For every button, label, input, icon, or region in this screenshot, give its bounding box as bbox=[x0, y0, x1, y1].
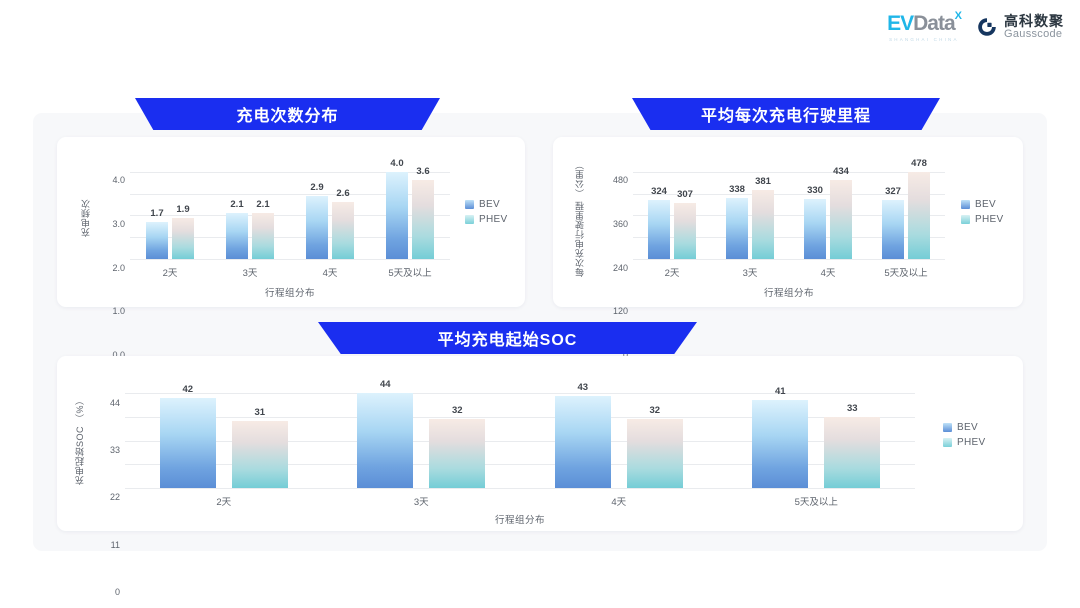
bar-phev-2[interactable]: 2.6 bbox=[332, 202, 354, 259]
chart3-legend-item-bev[interactable]: BEV bbox=[943, 422, 985, 433]
chart2-legend-item-phev[interactable]: PHEV bbox=[961, 214, 1003, 225]
bar-value-label: 324 bbox=[651, 186, 667, 197]
bar-value-label: 2.9 bbox=[310, 182, 323, 193]
gausscode-wordmark: 高科数聚 Gausscode bbox=[1004, 14, 1064, 40]
bev-swatch-icon bbox=[943, 423, 952, 432]
bar-value-label: 31 bbox=[254, 407, 265, 418]
chart3-y-axis-label-line1: 充电起始SOC bbox=[75, 426, 85, 485]
phev-swatch-icon bbox=[961, 215, 970, 224]
bar-bev-2[interactable]: 2.9 bbox=[306, 196, 328, 259]
bar-bev-3[interactable]: 41 bbox=[752, 400, 808, 488]
chart1-legend-item-phev[interactable]: PHEV bbox=[465, 214, 507, 225]
chart3-legend-label-phev: PHEV bbox=[957, 437, 985, 448]
chart1-plot-area: 0.01.02.03.04.01.71.92天2.12.13天2.92.64天4… bbox=[130, 163, 450, 259]
y-axis-tick: 3.0 bbox=[112, 219, 125, 229]
bar-value-label: 1.9 bbox=[176, 204, 189, 215]
chart-charging-frequency: 充电频次 0.01.02.03.04.01.71.92天2.12.13天2.92… bbox=[57, 137, 525, 307]
bar-phev-0[interactable]: 31 bbox=[232, 421, 288, 488]
evdata-wordmark: EV Data X bbox=[887, 13, 962, 34]
chart3-plot-area: 01122334442312天44323天43324天41335天及以上 bbox=[125, 384, 915, 488]
bar-bev-2[interactable]: 330 bbox=[804, 199, 826, 259]
chart2-plot-area: 01202403604803243072天3383813天3304344天327… bbox=[633, 163, 945, 259]
bar-value-label: 330 bbox=[807, 185, 823, 196]
chart-card-avg-range: 每次充电行驶里程 （公里） 01202403604803243072天33838… bbox=[553, 137, 1023, 307]
bar-phev-2[interactable]: 434 bbox=[830, 180, 852, 259]
bar-value-label: 478 bbox=[911, 158, 927, 169]
bar-value-label: 434 bbox=[833, 166, 849, 177]
chart2-legend-item-bev[interactable]: BEV bbox=[961, 199, 1003, 210]
bar-bev-0[interactable]: 1.7 bbox=[146, 222, 168, 259]
evdata-data-text: Data bbox=[913, 13, 955, 34]
bar-phev-0[interactable]: 1.9 bbox=[172, 218, 194, 259]
bar-bev-1[interactable]: 338 bbox=[726, 198, 748, 259]
chart2-x-axis-label: 行程组分布 bbox=[633, 285, 945, 299]
chart-title-banner-avg-start-soc: 平均充电起始SOC bbox=[318, 322, 697, 354]
bar-phev-1[interactable]: 2.1 bbox=[252, 213, 274, 259]
chart2-legend: BEV PHEV bbox=[961, 199, 1003, 225]
bar-value-label: 381 bbox=[755, 176, 771, 187]
bar-value-label: 1.7 bbox=[150, 208, 163, 219]
phev-swatch-icon bbox=[943, 438, 952, 447]
bar-phev-3[interactable]: 478 bbox=[908, 172, 930, 259]
y-axis-tick: 1.0 bbox=[112, 306, 125, 316]
bar-bev-3[interactable]: 4.0 bbox=[386, 172, 408, 259]
chart1-legend-label-phev: PHEV bbox=[479, 214, 507, 225]
bar-value-label: 41 bbox=[775, 386, 786, 397]
bar-phev-2[interactable]: 32 bbox=[627, 419, 683, 488]
chart-card-avg-start-soc: 充电起始SOC （%） 01122334442312天44323天43324天4… bbox=[57, 356, 1023, 531]
chart-avg-start-soc: 充电起始SOC （%） 01122334442312天44323天43324天4… bbox=[57, 356, 1023, 531]
bar-value-label: 2.6 bbox=[336, 188, 349, 199]
chart3-y-axis-label: 充电起始SOC （%） bbox=[75, 390, 85, 490]
gridline: 44 bbox=[125, 393, 915, 394]
x-axis-tick: 4天 bbox=[611, 494, 626, 508]
y-axis-tick: 360 bbox=[613, 219, 628, 229]
x-axis-tick: 4天 bbox=[323, 265, 338, 279]
y-axis-tick: 4.0 bbox=[112, 175, 125, 185]
chart1-x-axis-label: 行程组分布 bbox=[130, 285, 450, 299]
bar-bev-0[interactable]: 42 bbox=[160, 398, 216, 488]
x-axis-tick: 5天及以上 bbox=[795, 494, 838, 508]
evdata-tagline: SHANGHAI CHINA bbox=[889, 37, 959, 42]
chart3-legend-label-bev: BEV bbox=[957, 422, 978, 433]
bar-value-label: 33 bbox=[847, 403, 858, 414]
bar-value-label: 2.1 bbox=[230, 199, 243, 210]
gridline: 0.0 bbox=[130, 259, 450, 260]
chart3-legend-item-phev[interactable]: PHEV bbox=[943, 437, 985, 448]
bar-phev-0[interactable]: 307 bbox=[674, 203, 696, 259]
x-axis-tick: 3天 bbox=[414, 494, 429, 508]
chart3-y-axis-label-line2: （%） bbox=[75, 395, 85, 423]
gausscode-circle-icon bbox=[976, 16, 998, 38]
chart-avg-range: 每次充电行驶里程 （公里） 01202403604803243072天33838… bbox=[553, 137, 1023, 307]
x-axis-tick: 3天 bbox=[743, 265, 758, 279]
chart3-legend: BEV PHEV bbox=[943, 422, 985, 448]
evdata-x-superscript-icon: X bbox=[955, 11, 962, 22]
bar-value-label: 3.6 bbox=[416, 166, 429, 177]
bar-bev-1[interactable]: 44 bbox=[357, 393, 413, 488]
bar-value-label: 32 bbox=[649, 405, 660, 416]
bar-phev-3[interactable]: 33 bbox=[824, 417, 880, 488]
bar-value-label: 307 bbox=[677, 189, 693, 200]
x-axis-tick: 4天 bbox=[821, 265, 836, 279]
bar-bev-1[interactable]: 2.1 bbox=[226, 213, 248, 259]
bar-value-label: 42 bbox=[182, 384, 193, 395]
gausscode-cn-text: 高科数聚 bbox=[1004, 14, 1064, 29]
chart2-legend-label-bev: BEV bbox=[975, 199, 996, 210]
gridline: 0 bbox=[125, 488, 915, 489]
x-axis-tick: 3天 bbox=[243, 265, 258, 279]
bar-value-label: 44 bbox=[380, 379, 391, 390]
bev-swatch-icon bbox=[465, 200, 474, 209]
chart2-y-axis-label-line1: 每次充电行驶里程 bbox=[575, 201, 585, 277]
bev-swatch-icon bbox=[961, 200, 970, 209]
chart1-y-axis-label: 充电频次 bbox=[81, 181, 91, 255]
gausscode-logo: 高科数聚 Gausscode bbox=[976, 14, 1064, 40]
bar-value-label: 2.1 bbox=[256, 199, 269, 210]
chart-card-charging-frequency: 充电频次 0.01.02.03.04.01.71.92天2.12.13天2.92… bbox=[57, 137, 525, 307]
chart3-x-axis-label: 行程组分布 bbox=[125, 512, 915, 526]
bar-value-label: 32 bbox=[452, 405, 463, 416]
y-axis-tick: 240 bbox=[613, 263, 628, 273]
evdata-ev-text: EV bbox=[887, 13, 913, 34]
y-axis-tick: 44 bbox=[110, 398, 120, 408]
y-axis-tick: 120 bbox=[613, 306, 628, 316]
evdata-logo: EV Data X SHANGHAI CHINA bbox=[887, 13, 962, 42]
x-axis-tick: 5天及以上 bbox=[884, 265, 927, 279]
bar-phev-1[interactable]: 381 bbox=[752, 190, 774, 259]
slide-root: EV Data X SHANGHAI CHINA 高科数聚 Gausscode … bbox=[0, 0, 1080, 608]
x-axis-tick: 5天及以上 bbox=[388, 265, 431, 279]
bar-phev-1[interactable]: 32 bbox=[429, 419, 485, 488]
bar-value-label: 43 bbox=[577, 382, 588, 393]
chart2-y-axis-label: 每次充电行驶里程 （公里） bbox=[575, 159, 585, 277]
x-axis-tick: 2天 bbox=[163, 265, 178, 279]
bar-value-label: 327 bbox=[885, 186, 901, 197]
y-axis-tick: 2.0 bbox=[112, 263, 125, 273]
chart1-legend-item-bev[interactable]: BEV bbox=[465, 199, 507, 210]
gausscode-en-text: Gausscode bbox=[1004, 29, 1064, 41]
bar-value-label: 338 bbox=[729, 184, 745, 195]
y-axis-tick: 22 bbox=[110, 492, 120, 502]
bar-bev-2[interactable]: 43 bbox=[555, 396, 611, 488]
y-axis-tick: 0 bbox=[115, 587, 120, 597]
phev-swatch-icon bbox=[465, 215, 474, 224]
chart-title-banner-avg-range: 平均每次充电行驶里程 bbox=[632, 98, 940, 130]
chart1-legend: BEV PHEV bbox=[465, 199, 507, 225]
logo-bar: EV Data X SHANGHAI CHINA 高科数聚 Gausscode bbox=[887, 13, 1064, 42]
y-axis-tick: 480 bbox=[613, 175, 628, 185]
bar-bev-3[interactable]: 327 bbox=[882, 200, 904, 259]
chart-title-banner-charging-frequency: 充电次数分布 bbox=[135, 98, 440, 130]
x-axis-tick: 2天 bbox=[665, 265, 680, 279]
gridline: 480 bbox=[633, 172, 945, 173]
bar-phev-3[interactable]: 3.6 bbox=[412, 180, 434, 259]
gridline: 0 bbox=[633, 259, 945, 260]
y-axis-tick: 11 bbox=[111, 540, 120, 550]
y-axis-tick: 33 bbox=[110, 445, 120, 455]
chart2-legend-label-phev: PHEV bbox=[975, 214, 1003, 225]
bar-bev-0[interactable]: 324 bbox=[648, 200, 670, 259]
x-axis-tick: 2天 bbox=[216, 494, 231, 508]
chart2-y-axis-label-line2: （公里） bbox=[575, 160, 585, 198]
bar-value-label: 4.0 bbox=[390, 158, 403, 169]
chart1-legend-label-bev: BEV bbox=[479, 199, 500, 210]
